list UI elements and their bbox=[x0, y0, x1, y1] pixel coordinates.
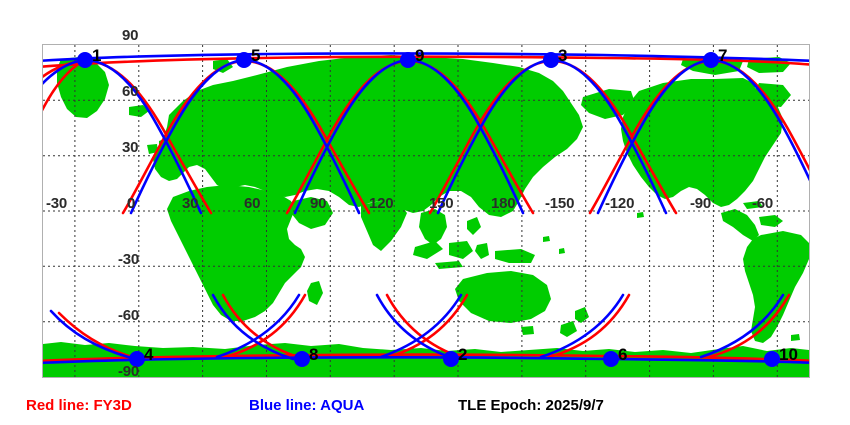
satellite-marker-label: 9 bbox=[415, 47, 424, 64]
satellite-marker-label: 3 bbox=[558, 47, 567, 64]
satellite-marker-label: 5 bbox=[251, 47, 260, 64]
satellite-marker-dot bbox=[603, 351, 619, 367]
lon-tick-label: 120 bbox=[369, 196, 393, 211]
sulawesi bbox=[475, 243, 489, 259]
legend-tle-epoch: TLE Epoch: 2025/9/7 bbox=[458, 398, 604, 413]
lat-tick-label: -30 bbox=[118, 252, 139, 267]
satellite-marker-dot bbox=[703, 52, 719, 68]
satellite-marker-label: 4 bbox=[144, 346, 153, 363]
satellite-marker-dot bbox=[543, 52, 559, 68]
aqua-arc-s5 bbox=[541, 295, 623, 357]
legend-blue-line: Blue line: AQUA bbox=[249, 398, 364, 413]
south-america bbox=[743, 231, 809, 343]
caribbean bbox=[759, 215, 783, 227]
satellite-marker-dot bbox=[77, 52, 93, 68]
land-layer bbox=[43, 55, 809, 377]
lat-tick-label: -90 bbox=[118, 364, 139, 379]
satellite-marker-dot bbox=[764, 351, 780, 367]
sumatra bbox=[413, 241, 443, 259]
philippines bbox=[467, 217, 481, 235]
lon-tick-label: 90 bbox=[310, 196, 326, 211]
satellite-marker-dot bbox=[443, 351, 459, 367]
hawaii bbox=[637, 212, 644, 218]
satellite-marker-label: 10 bbox=[779, 346, 798, 363]
lat-tick-label: 30 bbox=[122, 140, 138, 155]
satellite-marker-label: 1 bbox=[92, 47, 101, 64]
pacific-islands-2 bbox=[559, 248, 565, 254]
australia bbox=[455, 271, 551, 323]
satellite-marker-dot bbox=[294, 351, 310, 367]
madagascar bbox=[307, 281, 323, 305]
lon-tick-label: -120 bbox=[605, 196, 634, 211]
borneo bbox=[449, 241, 473, 259]
satellite-marker-dot bbox=[236, 52, 252, 68]
new-zealand-north bbox=[575, 307, 589, 323]
satellite-marker-label: 6 bbox=[618, 346, 627, 363]
satellite-marker-label: 2 bbox=[458, 346, 467, 363]
java bbox=[435, 261, 463, 269]
pacific-islands bbox=[543, 236, 550, 242]
north-america bbox=[621, 79, 783, 207]
central-america bbox=[721, 209, 759, 241]
lon-tick-label: 60 bbox=[244, 196, 260, 211]
southeast-asia bbox=[419, 209, 447, 245]
lon-tick-label: 0 bbox=[127, 196, 135, 211]
lon-tick-label: -30 bbox=[46, 196, 67, 211]
lon-tick-label: -60 bbox=[752, 196, 773, 211]
lon-tick-label: 150 bbox=[429, 196, 453, 211]
lon-tick-label: -90 bbox=[690, 196, 711, 211]
lat-tick-label: -60 bbox=[118, 308, 139, 323]
falkland-islands bbox=[791, 334, 800, 341]
satellite-marker-label: 7 bbox=[718, 47, 727, 64]
new-guinea bbox=[495, 249, 535, 263]
satellite-marker-label: 8 bbox=[309, 346, 318, 363]
lon-tick-label: -150 bbox=[545, 196, 574, 211]
lat-tick-label: 60 bbox=[122, 84, 138, 99]
lat-tick-label: 90 bbox=[122, 28, 138, 43]
lon-tick-label: 180 bbox=[491, 196, 515, 211]
legend-red-line: Red line: FY3D bbox=[26, 398, 132, 413]
lon-tick-label: 30 bbox=[182, 196, 198, 211]
satellite-marker-dot bbox=[400, 52, 416, 68]
tasmania bbox=[521, 326, 534, 335]
new-zealand-south bbox=[560, 321, 577, 337]
